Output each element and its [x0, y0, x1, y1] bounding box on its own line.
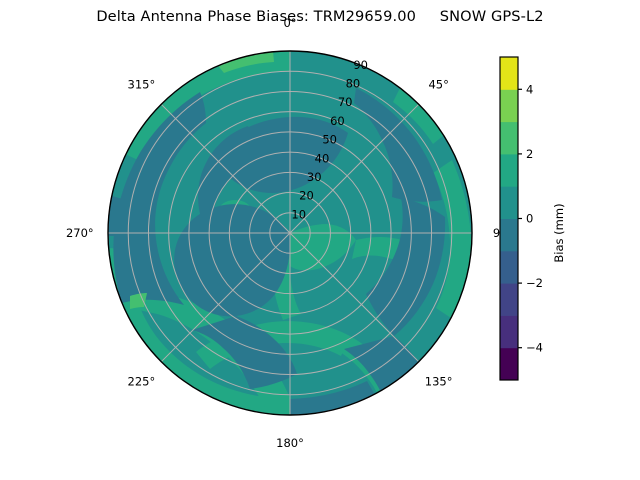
colorbar-tick-label-4: 4 [526, 82, 533, 96]
colorbar-band-5 [500, 186, 518, 219]
polar-grid [108, 51, 472, 415]
radial-tick-label-50: 50 [322, 133, 337, 147]
radial-tick-label-40: 40 [315, 151, 330, 165]
colorbar-bands [500, 57, 518, 381]
radial-tick-label-80: 80 [346, 77, 361, 91]
colorbar-tick-label--4: −4 [526, 341, 543, 355]
angular-gridlines [108, 51, 472, 415]
angular-tick-label-45: 45° [428, 77, 448, 91]
colorbar-band-2 [500, 283, 518, 316]
radial-tick-label-90: 90 [353, 58, 368, 72]
radial-tick-label-70: 70 [338, 95, 353, 109]
colorbar-band-9 [500, 57, 518, 90]
colorbar-band-1 [500, 315, 518, 348]
figure-title: Delta Antenna Phase Biases: TRM29659.00 … [0, 8, 640, 25]
colorbar-band-0 [500, 348, 518, 381]
figure-canvas: Delta Antenna Phase Biases: TRM29659.00 … [0, 0, 640, 480]
colorbar-tick-label-2: 2 [526, 147, 533, 161]
angular-tick-label-135: 135° [425, 375, 453, 389]
colorbar-band-3 [500, 251, 518, 284]
colorbar[interactable]: −4−2024 Bias (mm) [500, 57, 566, 381]
colorbar-band-7 [500, 122, 518, 155]
radial-tick-label-30: 30 [307, 170, 322, 184]
colorbar-band-4 [500, 219, 518, 252]
colorbar-tick-label-0: 0 [526, 212, 533, 226]
angular-tick-label-270: 270° [66, 226, 94, 240]
colorbar-tick-label--2: −2 [526, 276, 543, 290]
colorbar-ticks: −4−2024 [518, 82, 543, 354]
colorbar-band-8 [500, 89, 518, 122]
colorbar-band-6 [500, 154, 518, 187]
radial-tick-label-60: 60 [330, 114, 345, 128]
angular-tick-label-225: 225° [128, 375, 156, 389]
radial-tick-label-20: 20 [299, 189, 314, 203]
colorbar-axis-label: Bias (mm) [552, 203, 566, 262]
angular-tick-label-315: 315° [128, 77, 156, 91]
polar-plot-svg: 102030405060708090 0°45°90135°180°225°27… [0, 0, 640, 480]
angular-tick-label-180: 180° [276, 436, 304, 450]
radial-tick-label-10: 10 [291, 207, 306, 221]
